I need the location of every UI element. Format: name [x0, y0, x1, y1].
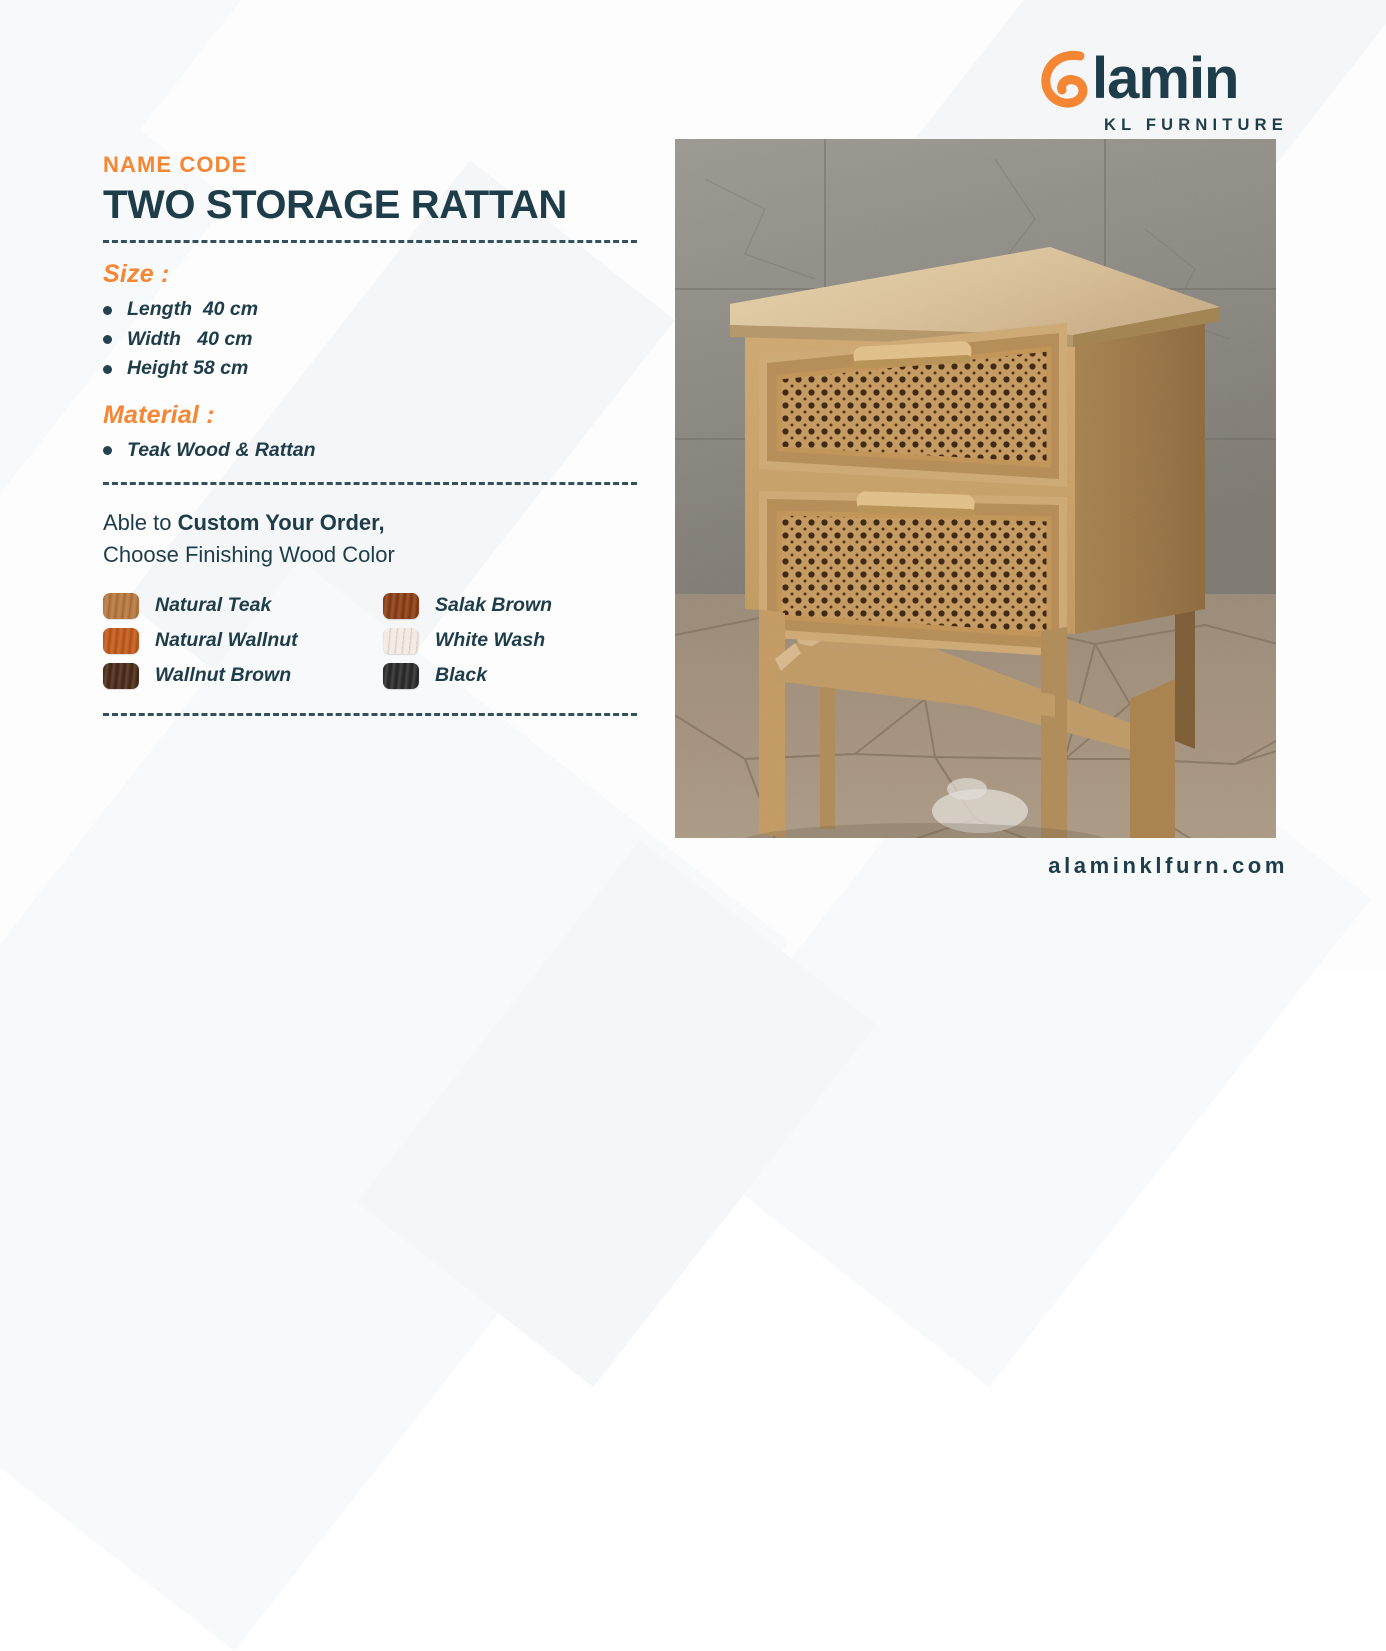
size-heading: Size :	[103, 260, 637, 289]
swatch-chip-icon	[383, 593, 419, 619]
size-item: Height 58 cm	[103, 354, 637, 384]
logo-wordmark-text: lamin	[1092, 46, 1239, 112]
bullet-icon	[103, 335, 112, 344]
size-list: Length 40 cm Width 40 cm Height 58 cm	[103, 295, 637, 384]
divider-footer	[103, 713, 637, 716]
bullet-icon	[103, 306, 112, 315]
product-photo	[675, 139, 1276, 838]
finish-swatch-label: Wallnut Brown	[155, 664, 291, 687]
finish-swatch-label: Natural Teak	[155, 594, 271, 617]
bullet-icon	[103, 365, 112, 374]
brand-logo: lamin KL FURNITURE	[1040, 48, 1290, 135]
custom-order-line-2: Choose Finishing Wood Color	[103, 539, 637, 571]
size-item: Width 40 cm	[103, 325, 637, 355]
logo-subtitle: KL FURNITURE	[1040, 116, 1290, 135]
size-item-label: Length 40 cm	[127, 295, 258, 325]
name-code-label: NAME CODE	[103, 152, 637, 178]
finish-swatch-natural-teak[interactable]: Natural Teak	[103, 593, 383, 619]
divider-material	[103, 482, 637, 485]
finish-swatch-label: White Wash	[435, 629, 545, 652]
material-item: Teak Wood & Rattan	[103, 436, 637, 466]
material-item-label: Teak Wood & Rattan	[127, 436, 316, 466]
finish-swatch-wallnut-brown[interactable]: Wallnut Brown	[103, 663, 383, 689]
finish-swatch-natural-wallnut[interactable]: Natural Wallnut	[103, 628, 383, 654]
website-url[interactable]: alaminklfurn.com	[1048, 853, 1288, 879]
material-heading: Material :	[103, 401, 637, 430]
swatch-chip-icon	[103, 663, 139, 689]
swatch-chip-icon	[383, 663, 419, 689]
swatch-chip-icon	[383, 628, 419, 654]
custom-order-plain: Able to	[103, 510, 178, 535]
finish-swatch-label: Black	[435, 664, 487, 687]
product-info-panel: NAME CODE TWO STORAGE RATTAN Size : Leng…	[103, 152, 637, 716]
finish-swatch-grid: Natural Teak Salak Brown Natural Wallnut…	[103, 593, 637, 689]
divider-title	[103, 240, 637, 243]
size-item: Length 40 cm	[103, 295, 637, 325]
size-item-label: Height 58 cm	[127, 354, 248, 384]
bullet-icon	[103, 446, 112, 455]
finish-swatch-label: Natural Wallnut	[155, 629, 298, 652]
custom-order-note: Able to Custom Your Order, Choose Finish…	[103, 507, 637, 571]
finish-swatch-salak-brown[interactable]: Salak Brown	[383, 593, 637, 619]
finish-swatch-label: Salak Brown	[435, 594, 552, 617]
product-title: TWO STORAGE RATTAN	[103, 184, 637, 227]
material-list: Teak Wood & Rattan	[103, 436, 637, 466]
swatch-chip-icon	[103, 593, 139, 619]
swatch-chip-icon	[103, 628, 139, 654]
finish-swatch-white-wash[interactable]: White Wash	[383, 628, 637, 654]
custom-order-line-1: Able to Custom Your Order,	[103, 507, 637, 539]
finish-swatch-black[interactable]: Black	[383, 663, 637, 689]
size-item-label: Width 40 cm	[127, 325, 253, 355]
custom-order-bold: Custom Your Order,	[178, 510, 385, 535]
